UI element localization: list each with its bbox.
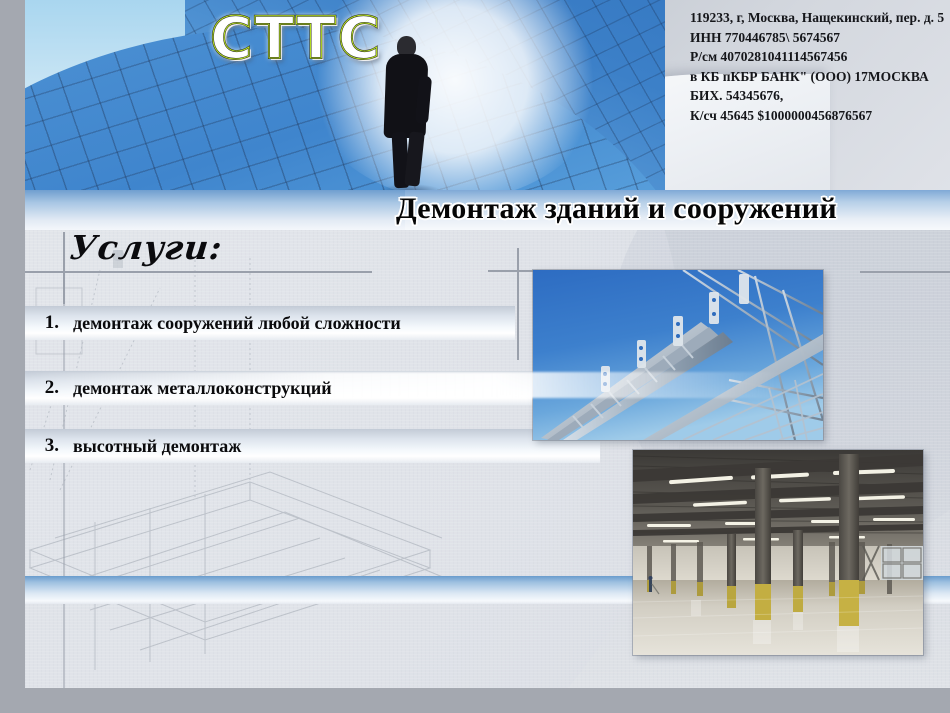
list-item-number: 2. xyxy=(25,377,65,399)
list-item-number: 3. xyxy=(25,435,65,457)
list-item-number: 1. xyxy=(25,312,65,334)
businessman-arm xyxy=(415,76,432,125)
services-heading: Услуги: xyxy=(68,228,225,267)
businessman-leg-right xyxy=(404,131,425,186)
requisites-line-6: К/сч 45645 $1000000456876567 xyxy=(690,106,950,126)
photo-warehouse-interior[interactable] xyxy=(633,450,923,655)
divider-horizontal-right xyxy=(860,271,950,273)
list-item[interactable]: 2. демонтаж металлоконструкций xyxy=(25,371,585,405)
list-item-label: высотный демонтаж xyxy=(65,436,241,457)
requisites-line-1: 119233, г, Москва, Нащекинский, пер. д. … xyxy=(690,8,950,28)
photo-steel-truss[interactable] xyxy=(533,270,823,440)
divider-vertical-middle xyxy=(517,248,519,360)
border-left xyxy=(0,0,25,713)
requisites-line-4: в КБ пКБР БАНК" (ООО) 17МОСКВА xyxy=(690,67,950,87)
requisites-line-3: Р/см 4070281041114567456 xyxy=(690,47,950,67)
title-band-left xyxy=(25,190,405,230)
list-item-label: демонтаж сооружений любой сложности xyxy=(65,313,401,334)
header-banner-image: СТТС СТТС 119233, г, Москва, Нащекинский… xyxy=(25,0,950,196)
list-item[interactable]: 3. высотный демонтаж xyxy=(25,429,600,463)
company-logo-outline: СТТС xyxy=(210,4,382,72)
requisites-line-2: ИНН 770446785\ 5674567 xyxy=(690,28,950,48)
divider-vertical-long xyxy=(63,300,65,690)
requisites-line-5: БИХ. 54345676, xyxy=(690,86,950,106)
border-bottom xyxy=(0,688,950,713)
divider-horizontal-services xyxy=(25,271,372,273)
presentation-slide: СТТС СТТС 119233, г, Москва, Нащекинский… xyxy=(0,0,950,713)
company-requisites: 119233, г, Москва, Нащекинский, пер. д. … xyxy=(690,8,950,125)
page-title: Демонтаж зданий и сооружений xyxy=(396,192,837,226)
list-item-label: демонтаж металлоконструкций xyxy=(65,378,332,399)
divider-vertical-left xyxy=(63,232,65,304)
list-item[interactable]: 1. демонтаж сооружений любой сложности xyxy=(25,306,515,340)
businessman-silhouette xyxy=(377,36,435,188)
